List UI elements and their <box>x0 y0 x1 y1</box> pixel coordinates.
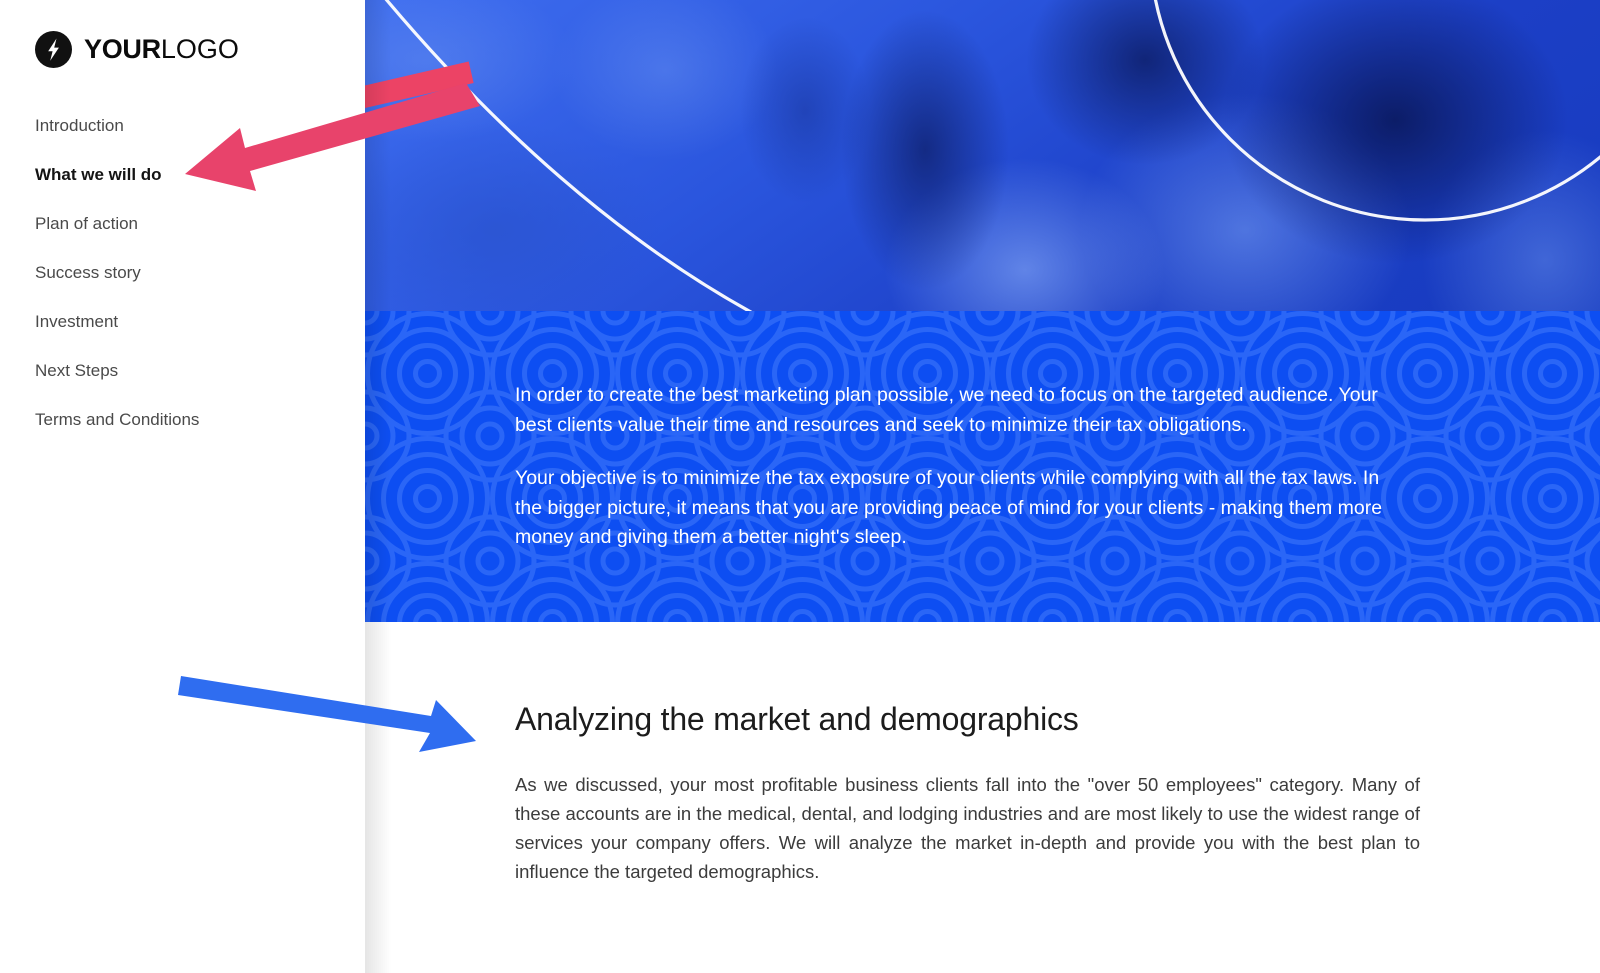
lightning-bolt-icon <box>35 31 72 68</box>
sidebar-item-introduction[interactable]: Introduction <box>35 117 335 134</box>
highlight-paragraph-1: In order to create the best marketing pl… <box>515 381 1405 440</box>
highlight-band-text: In order to create the best marketing pl… <box>515 381 1405 553</box>
section-body-text: As we discussed, your most profitable bu… <box>515 770 1420 886</box>
white-circle-arc <box>365 0 1600 311</box>
sidebar-item-success-story[interactable]: Success story <box>35 264 335 281</box>
sidebar: YOURLOGO Introduction What we will do Pl… <box>0 0 365 973</box>
sidebar-nav: Introduction What we will do Plan of act… <box>35 117 335 460</box>
content-column: In order to create the best marketing pl… <box>365 0 1600 973</box>
sidebar-item-investment[interactable]: Investment <box>35 313 335 330</box>
logo[interactable]: YOURLOGO <box>35 31 239 68</box>
sidebar-item-next-steps[interactable]: Next Steps <box>35 362 335 379</box>
logo-logo: LOGO <box>161 34 239 64</box>
proposal-page: In order to create the best marketing pl… <box>0 0 1600 973</box>
highlight-paragraph-2: Your objective is to minimize the tax ex… <box>515 464 1405 553</box>
hero-banner <box>365 0 1600 311</box>
page-title: Analyzing the market and demographics <box>515 700 1079 738</box>
analysis-section: Analyzing the market and demographics As… <box>365 622 1600 973</box>
sidebar-item-plan-of-action[interactable]: Plan of action <box>35 215 335 232</box>
highlight-band: In order to create the best marketing pl… <box>365 311 1600 622</box>
sidebar-item-what-we-will-do[interactable]: What we will do <box>35 166 335 183</box>
logo-your: YOUR <box>84 34 161 64</box>
logo-wordmark: YOURLOGO <box>84 36 239 63</box>
sidebar-item-terms-and-conditions[interactable]: Terms and Conditions <box>35 411 335 428</box>
